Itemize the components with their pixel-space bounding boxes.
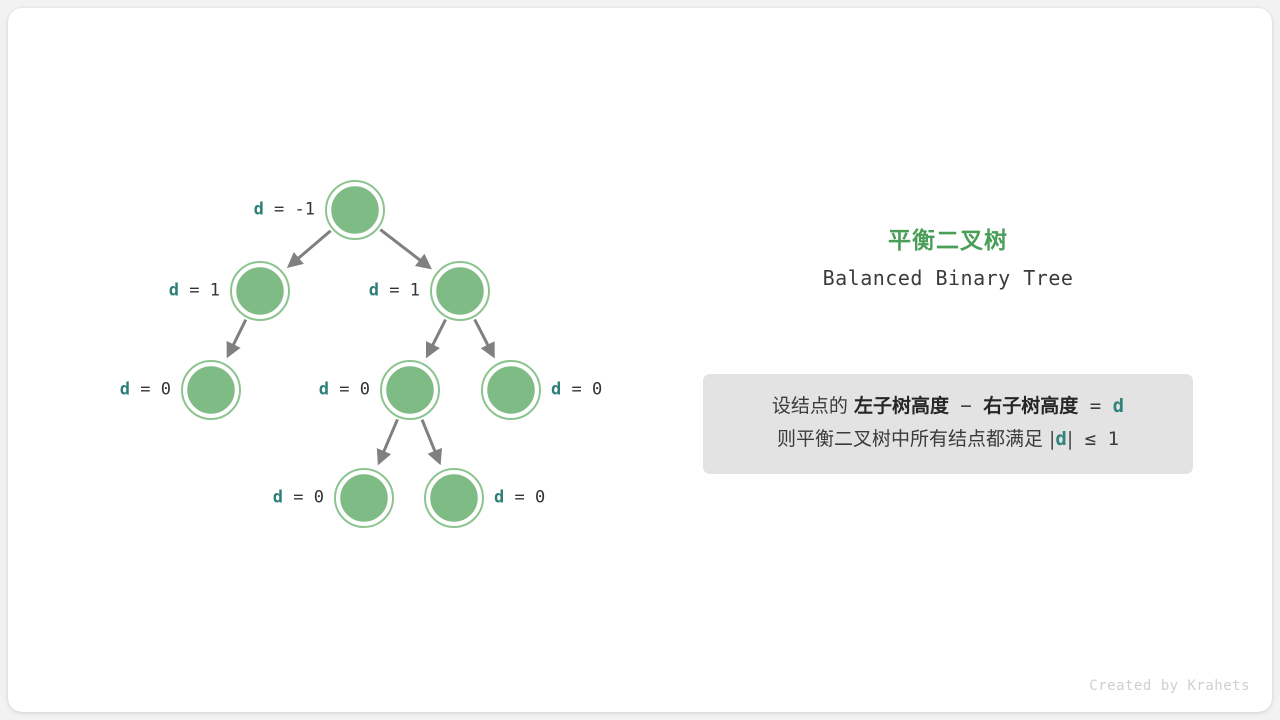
- node-disc: [385, 365, 435, 415]
- tree-edge: [422, 420, 439, 462]
- node-disc: [435, 266, 485, 316]
- node-balance-label: d = 0: [494, 490, 545, 507]
- node-label-variable: d: [494, 488, 504, 508]
- node-label-variable: d: [551, 380, 561, 400]
- node-balance-label: d = 0: [319, 382, 370, 399]
- tree-node[interactable]: [182, 361, 240, 419]
- node-balance-label: d = 0: [120, 382, 171, 399]
- node-label-value: = -1: [264, 200, 315, 220]
- tree-node[interactable]: [425, 469, 483, 527]
- node-disc: [339, 473, 389, 523]
- node-disc: [486, 365, 536, 415]
- node-label-value: = 0: [130, 380, 171, 400]
- tree-node[interactable]: [431, 262, 489, 320]
- definition-prefix-1: 设结点的: [772, 395, 854, 417]
- node-balance-label: d = 1: [169, 283, 220, 300]
- binary-tree-diagram: [8, 8, 1272, 712]
- tree-node[interactable]: [335, 469, 393, 527]
- node-disc: [429, 473, 479, 523]
- node-label-variable: d: [273, 488, 283, 508]
- node-label-value: = 1: [179, 281, 220, 301]
- node-label-variable: d: [169, 281, 179, 301]
- panel-title-cn: 平衡二叉树: [695, 226, 1201, 256]
- node-label-variable: d: [120, 380, 130, 400]
- panel-title-en: Balanced Binary Tree: [695, 263, 1201, 293]
- definition-line-2: 则平衡二叉树中所有结点都满足 |d| ≤ 1: [703, 423, 1193, 456]
- tree-edge: [290, 231, 331, 266]
- definition-bound-value: 1: [1108, 428, 1119, 450]
- definition-leq-operator: ≤: [1073, 428, 1107, 450]
- node-label-value: = 1: [379, 281, 420, 301]
- tree-edge: [380, 230, 429, 268]
- definition-variable-d: d: [1113, 395, 1124, 417]
- node-label-value: = 0: [504, 488, 545, 508]
- node-label-variable: d: [254, 200, 264, 220]
- credit-text: Created by Krahets: [1089, 678, 1250, 694]
- tree-edge: [379, 419, 397, 462]
- definition-line-1: 设结点的 左子树高度 − 右子树高度 = d: [703, 390, 1193, 423]
- info-panel: 平衡二叉树 Balanced Binary Tree 设结点的 左子树高度 − …: [695, 226, 1201, 293]
- definition-box: 设结点的 左子树高度 − 右子树高度 = d 则平衡二叉树中所有结点都满足 |d…: [703, 374, 1193, 474]
- definition-prefix-2: 则平衡二叉树中所有结点都满足: [777, 428, 1049, 450]
- definition-right-subtree-height: 右子树高度: [983, 395, 1078, 417]
- tree-edge: [475, 319, 493, 355]
- node-balance-label: d = -1: [254, 202, 315, 219]
- node-label-value: = 0: [561, 380, 602, 400]
- definition-minus-operator: −: [949, 395, 983, 417]
- tree-node[interactable]: [381, 361, 439, 419]
- node-label-variable: d: [319, 380, 329, 400]
- node-disc: [186, 365, 236, 415]
- tree-node[interactable]: [482, 361, 540, 419]
- tree-edges: [228, 230, 493, 463]
- definition-variable-d-abs: d: [1055, 428, 1066, 450]
- tree-edge: [428, 320, 446, 356]
- node-balance-label: d = 0: [273, 490, 324, 507]
- node-label-value: = 0: [329, 380, 370, 400]
- definition-equals-operator: =: [1078, 395, 1112, 417]
- node-disc: [330, 185, 380, 235]
- definition-left-subtree-height: 左子树高度: [854, 395, 949, 417]
- node-balance-label: d = 0: [551, 382, 602, 399]
- node-balance-label: d = 1: [369, 283, 420, 300]
- node-disc: [235, 266, 285, 316]
- tree-node[interactable]: [326, 181, 384, 239]
- node-label-variable: d: [369, 281, 379, 301]
- tree-edge: [228, 320, 246, 355]
- diagram-card: d = -1d = 1d = 1d = 0d = 0d = 0d = 0d = …: [8, 8, 1272, 712]
- tree-node[interactable]: [231, 262, 289, 320]
- tree-nodes: [182, 181, 540, 527]
- node-label-value: = 0: [283, 488, 324, 508]
